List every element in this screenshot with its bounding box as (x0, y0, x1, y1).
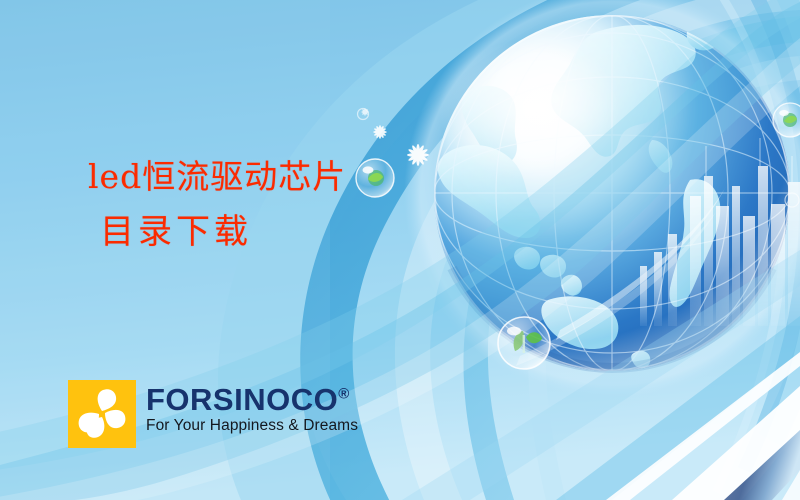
headline-line-2: 目录下载 (100, 215, 346, 249)
registered-trademark-icon: ® (338, 386, 350, 403)
headline-line-1: led恒流驱动芯片 (88, 160, 346, 193)
logo-text-block: FORSINOCO® For Your Happiness & Dreams (146, 380, 358, 435)
four-petal-flower-icon (68, 380, 136, 448)
company-logo: FORSINOCO® For Your Happiness & Dreams (68, 380, 358, 448)
headline-text: led恒流驱动芯片 目录下载 (88, 160, 346, 249)
wordmark-label: FORSINOCO (146, 382, 338, 417)
tagline: For Your Happiness & Dreams (146, 417, 358, 435)
wordmark: FORSINOCO® (146, 384, 350, 415)
banner-canvas: led恒流驱动芯片 目录下载 FORSINOCO® (0, 0, 800, 500)
